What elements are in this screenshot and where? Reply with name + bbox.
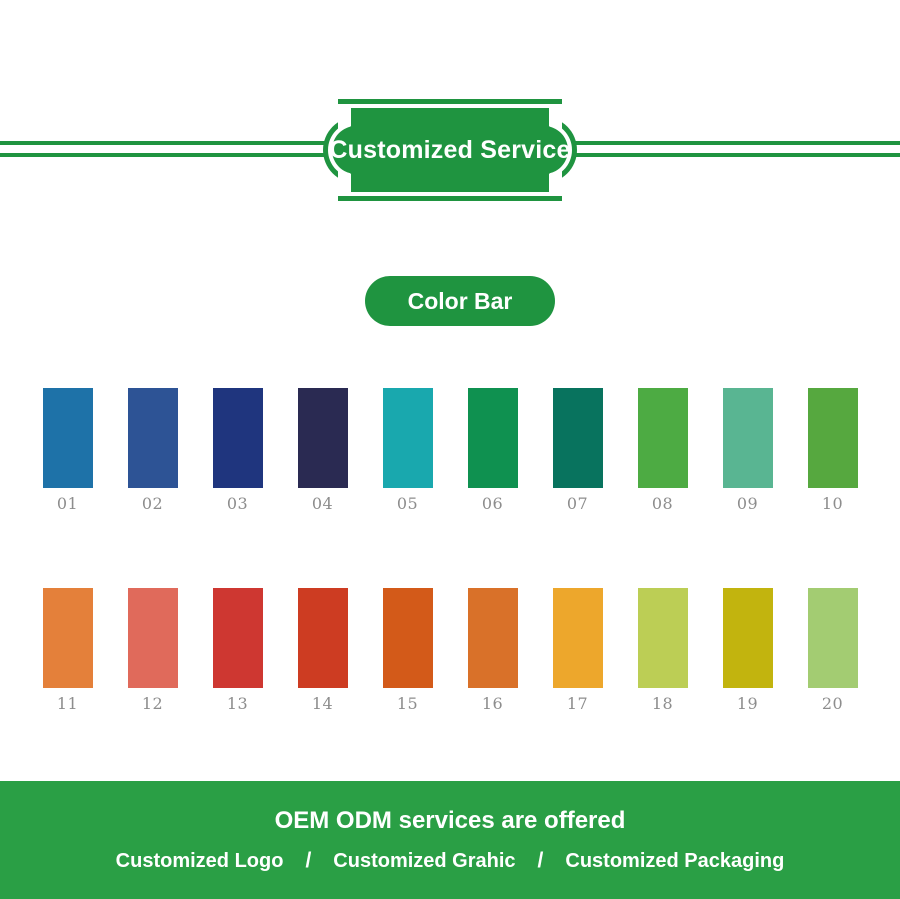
- swatch-label: 09: [737, 496, 758, 512]
- footer-headline: OEM ODM services are offered: [275, 807, 626, 835]
- swatch-cell[interactable]: 11: [43, 588, 93, 712]
- swatch-cell[interactable]: 19: [723, 588, 773, 712]
- swatch-row: 11121314151617181920: [0, 588, 900, 712]
- swatch-label: 17: [567, 696, 588, 712]
- swatch-cell[interactable]: 05: [383, 388, 433, 512]
- swatch-label: 18: [652, 696, 673, 712]
- swatch-label: 20: [822, 696, 843, 712]
- swatch-label: 12: [142, 696, 163, 712]
- footer-service-list: Customized Logo/Customized Grahic/Custom…: [116, 849, 785, 873]
- plaque-title: Customized Service: [318, 99, 582, 201]
- swatch-label: 03: [227, 496, 248, 512]
- color-bar-page: Customized Service Color Bar 01020304050…: [0, 0, 900, 899]
- swatch-label: 05: [397, 496, 418, 512]
- swatch-chip[interactable]: [383, 388, 433, 488]
- swatch-label: 15: [397, 696, 418, 712]
- swatch-cell[interactable]: 03: [213, 388, 263, 512]
- swatch-label: 07: [567, 496, 588, 512]
- swatch-cell[interactable]: 12: [128, 588, 178, 712]
- swatch-label: 02: [142, 496, 163, 512]
- swatch-cell[interactable]: 16: [468, 588, 518, 712]
- swatch-chip[interactable]: [213, 388, 263, 488]
- swatch-grid-row-b: 11121314151617181920: [0, 588, 900, 712]
- swatch-label: 06: [482, 496, 503, 512]
- footer-service-item: Customized Logo: [116, 850, 284, 873]
- swatch-chip[interactable]: [43, 388, 93, 488]
- swatch-cell[interactable]: 08: [638, 388, 688, 512]
- swatch-chip[interactable]: [468, 588, 518, 688]
- swatch-label: 14: [312, 696, 333, 712]
- swatch-cell[interactable]: 07: [553, 388, 603, 512]
- swatch-label: 10: [822, 496, 843, 512]
- color-bar-pill: Color Bar: [365, 276, 555, 326]
- swatch-label: 08: [652, 496, 673, 512]
- swatch-grid-row-a: 01020304050607080910: [0, 388, 900, 512]
- swatch-chip[interactable]: [383, 588, 433, 688]
- swatch-chip[interactable]: [298, 588, 348, 688]
- swatch-chip[interactable]: [43, 588, 93, 688]
- swatch-cell[interactable]: 01: [43, 388, 93, 512]
- swatch-label: 11: [57, 696, 78, 712]
- swatch-cell[interactable]: 02: [128, 388, 178, 512]
- swatch-cell[interactable]: 14: [298, 588, 348, 712]
- color-bar-pill-label: Color Bar: [408, 288, 513, 315]
- swatch-chip[interactable]: [808, 388, 858, 488]
- swatch-cell[interactable]: 10: [808, 388, 858, 512]
- swatch-chip[interactable]: [638, 388, 688, 488]
- swatch-cell[interactable]: 09: [723, 388, 773, 512]
- footer-separator: /: [301, 849, 315, 873]
- footer-service-item: Customized Packaging: [565, 850, 784, 873]
- swatch-cell[interactable]: 13: [213, 588, 263, 712]
- plaque-banner: Customized Service: [318, 99, 582, 201]
- swatch-chip[interactable]: [808, 588, 858, 688]
- swatch-row: 01020304050607080910: [0, 388, 900, 512]
- swatch-cell[interactable]: 15: [383, 588, 433, 712]
- header-banner: Customized Service: [0, 0, 900, 230]
- swatch-cell[interactable]: 17: [553, 588, 603, 712]
- swatch-cell[interactable]: 04: [298, 388, 348, 512]
- swatch-chip[interactable]: [638, 588, 688, 688]
- swatch-label: 19: [737, 696, 758, 712]
- swatch-label: 04: [312, 496, 333, 512]
- swatch-cell[interactable]: 06: [468, 388, 518, 512]
- footer-service-item: Customized Grahic: [333, 850, 515, 873]
- swatch-cell[interactable]: 18: [638, 588, 688, 712]
- swatch-chip[interactable]: [553, 588, 603, 688]
- swatch-chip[interactable]: [128, 388, 178, 488]
- swatch-cell[interactable]: 20: [808, 588, 858, 712]
- swatch-chip[interactable]: [128, 588, 178, 688]
- swatch-chip[interactable]: [553, 388, 603, 488]
- swatch-label: 16: [482, 696, 503, 712]
- swatch-chip[interactable]: [213, 588, 263, 688]
- footer-banner: OEM ODM services are offered Customized …: [0, 781, 900, 899]
- swatch-chip[interactable]: [298, 388, 348, 488]
- swatch-chip[interactable]: [723, 388, 773, 488]
- swatch-chip[interactable]: [468, 388, 518, 488]
- swatch-chip[interactable]: [723, 588, 773, 688]
- swatch-label: 01: [57, 496, 78, 512]
- swatch-label: 13: [227, 696, 248, 712]
- footer-separator: /: [534, 849, 548, 873]
